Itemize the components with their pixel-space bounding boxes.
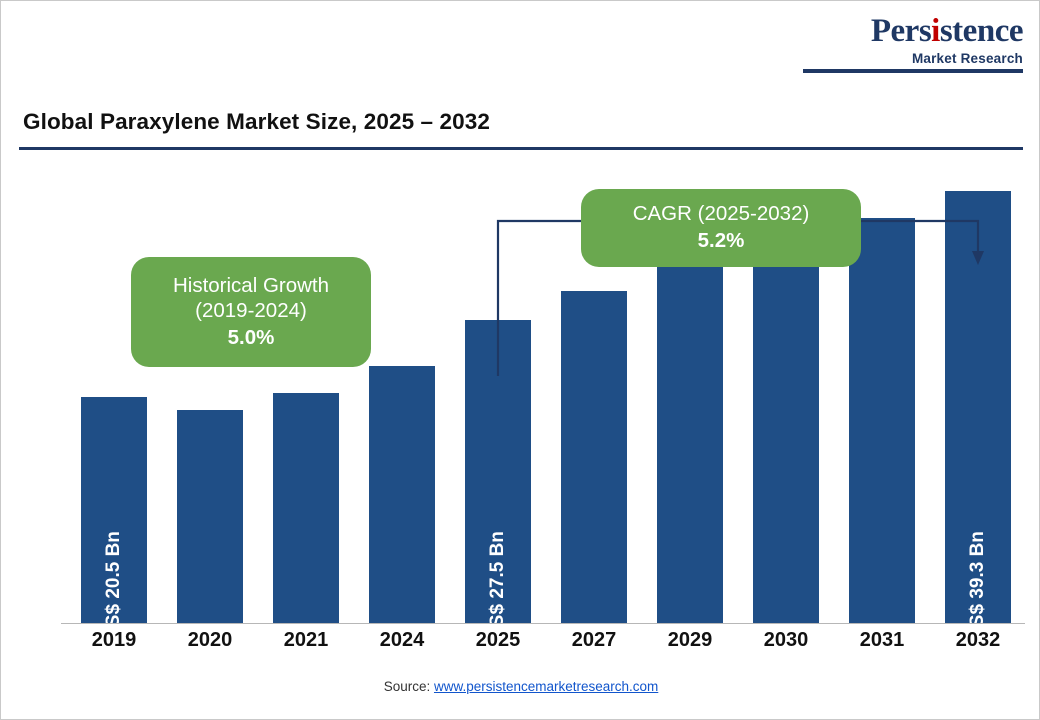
bar-2030 [753, 242, 819, 623]
x-axis-line [61, 623, 1025, 624]
bar-2024 [369, 366, 435, 623]
x-label-2020: 2020 [177, 629, 243, 652]
bar-2021 [273, 393, 339, 623]
source-note: Source: www.persistencemarketresearch.co… [1, 679, 1040, 694]
callout-cagr-line1: CAGR (2025-2032) [633, 201, 810, 227]
bar-2025: US$ 27.5 Bn [465, 320, 531, 623]
x-label-2021: 2021 [273, 629, 339, 652]
bar-label-2025: US$ 27.5 Bn [487, 531, 509, 641]
x-label-2031: 2031 [849, 629, 915, 652]
bar-2032: US$ 39.3 Bn [945, 191, 1011, 623]
bar-label-2032: US$ 39.3 Bn [967, 531, 989, 641]
bar-2029 [657, 264, 723, 623]
bar-2027 [561, 291, 627, 623]
x-label-2030: 2030 [753, 629, 819, 652]
x-axis-labels: 2019 2020 2021 2024 2025 2027 2029 2030 … [41, 629, 1001, 665]
source-link[interactable]: www.persistencemarketresearch.com [434, 679, 658, 694]
bar-2031 [849, 218, 915, 623]
callout-historical-line1: Historical Growth [173, 273, 329, 299]
logo-name: Persistence [871, 13, 1023, 49]
bar-label-2019: US$ 20.5 Bn [103, 531, 125, 641]
bar-2020 [177, 410, 243, 623]
callout-historical-growth: Historical Growth (2019-2024) 5.0% [131, 257, 371, 367]
logo: Persistence Market Research [803, 15, 1023, 73]
title-divider [19, 147, 1023, 150]
callout-cagr: CAGR (2025-2032) 5.2% [581, 189, 861, 267]
callout-cagr-value: 5.2% [698, 227, 745, 255]
x-label-2032: 2032 [945, 629, 1011, 652]
bar-chart: US$ 20.5 Bn US$ 27.5 Bn US$ 39.3 Bn 2019… [19, 161, 1023, 631]
x-label-2027: 2027 [561, 629, 627, 652]
x-label-2024: 2024 [369, 629, 435, 652]
chart-page: Persistence Market Research Global Parax… [0, 0, 1040, 720]
logo-tagline: Market Research [803, 51, 1023, 66]
logo-underline [803, 69, 1023, 73]
source-prefix: Source: [384, 679, 434, 694]
callout-historical-value: 5.0% [228, 324, 275, 352]
page-title: Global Paraxylene Market Size, 2025 – 20… [23, 109, 490, 135]
x-label-2019: 2019 [81, 629, 147, 652]
x-label-2029: 2029 [657, 629, 723, 652]
callout-historical-line2: (2019-2024) [195, 298, 307, 324]
x-label-2025: 2025 [465, 629, 531, 652]
logo-wordmark: Persistence [803, 15, 1023, 48]
bar-2019: US$ 20.5 Bn [81, 397, 147, 623]
